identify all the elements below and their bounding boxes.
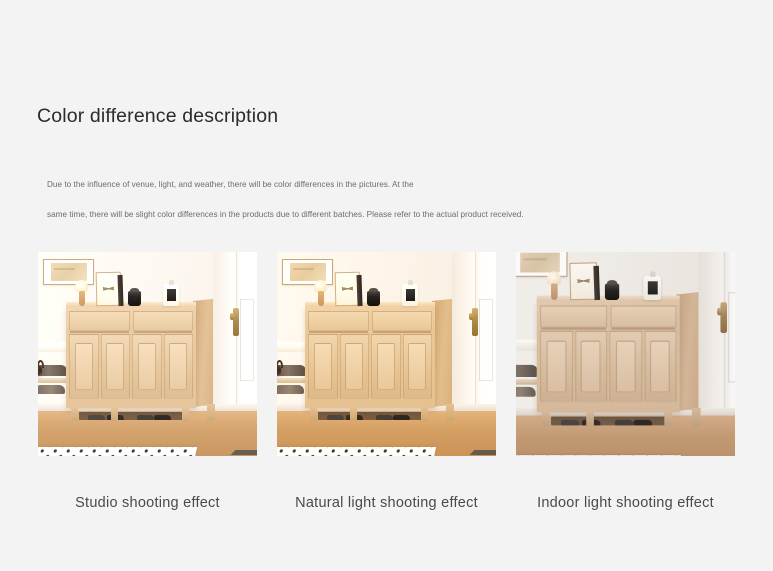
- wall-art-mat: [51, 263, 87, 280]
- cabinet-drawers: [540, 306, 676, 327]
- cabinet-leg: [664, 411, 672, 427]
- shoe-under-cabinet: [88, 415, 105, 420]
- bench-shoes-lower: [38, 385, 65, 395]
- white-decor-box: [644, 276, 662, 300]
- shoe-cabinet: [66, 306, 213, 408]
- cabinet-door: [371, 334, 400, 399]
- scene-studio: [38, 252, 257, 456]
- dark-book: [593, 266, 600, 300]
- door-handle-icon: [472, 308, 478, 337]
- caption-row: Studio shooting effect Natural light sho…: [38, 492, 735, 522]
- cabinet-door: [644, 331, 676, 403]
- color-difference-page: Color difference description Due to the …: [0, 0, 773, 571]
- bench-shoes-lower: [516, 387, 536, 398]
- cabinet-drawer: [610, 306, 677, 327]
- cabinet-leg: [310, 407, 317, 421]
- cabinet-leg: [421, 407, 428, 421]
- cabinet-leg: [350, 407, 357, 421]
- caption-natural: Natural light shooting effect: [277, 492, 496, 522]
- description-line-2: same time, there will be slight color di…: [47, 200, 737, 230]
- wall-art-mat: [520, 253, 559, 272]
- caption-indoor: Indoor light shooting effect: [516, 492, 735, 522]
- cabinet-drawer: [372, 311, 432, 330]
- shoe-cabinet: [305, 306, 452, 408]
- page-title: Color difference description: [37, 103, 278, 129]
- polka-dot-rug: [277, 447, 436, 456]
- rug-edge: [470, 450, 496, 455]
- cabinet-door: [164, 334, 193, 399]
- cabinet-drawer: [133, 311, 193, 330]
- cabinet-door: [403, 334, 432, 399]
- scene-natural: [277, 252, 496, 456]
- polka-dot-rug: [38, 447, 197, 456]
- shoe-under-cabinet: [393, 415, 410, 420]
- cabinet-drawers: [69, 311, 193, 330]
- cabinet-side-panel: [677, 293, 699, 412]
- mushroom-lamp-icon: [314, 280, 327, 306]
- cabinet-legs: [307, 407, 451, 421]
- cabinet-door: [575, 331, 607, 403]
- mushroom-lamp-icon: [547, 271, 562, 300]
- lamp-base: [79, 291, 85, 306]
- description-block: Due to the influence of venue, light, an…: [47, 170, 737, 230]
- door-panel: [240, 299, 254, 382]
- cabinet-leg: [446, 404, 453, 421]
- door-handle-icon: [233, 308, 239, 337]
- shoe-cabinet: [537, 300, 698, 412]
- photo-card-studio[interactable]: [38, 252, 257, 456]
- photo-card-natural[interactable]: [277, 252, 496, 456]
- dark-book: [356, 275, 362, 306]
- cabinet-leg: [692, 408, 700, 427]
- door-panel: [479, 299, 493, 382]
- bench-shoes-upper: [516, 365, 537, 377]
- cabinet-doors: [69, 334, 193, 399]
- cabinet-door: [340, 334, 369, 399]
- cabinet-drawers: [308, 311, 432, 330]
- caption-studio: Studio shooting effect: [38, 492, 257, 522]
- cabinet-drawer: [308, 311, 368, 330]
- cabinet-side-panel: [432, 299, 452, 407]
- cabinet-side-panel: [193, 299, 213, 407]
- cabinet-body: [537, 300, 679, 412]
- cabinet-door: [69, 334, 98, 399]
- rug-edge: [231, 450, 257, 455]
- scene-indoor: [516, 252, 735, 456]
- cabinet-drawer: [69, 311, 129, 330]
- white-decor-box: [163, 284, 179, 306]
- description-line-1: Due to the influence of venue, light, an…: [47, 170, 737, 200]
- cabinet-door: [308, 334, 337, 399]
- cabinet-leg: [111, 407, 118, 421]
- lamp-base: [551, 284, 558, 300]
- cabinet-door: [101, 334, 130, 399]
- cabinet-body: [305, 306, 434, 408]
- black-vase-icon: [605, 284, 620, 301]
- cabinet-leg: [207, 404, 214, 421]
- black-vase-icon: [128, 291, 141, 306]
- cabinet-door: [132, 334, 161, 399]
- photo-gallery: [38, 252, 735, 456]
- shoe-under-cabinet: [327, 415, 344, 420]
- cabinet-door: [540, 331, 572, 403]
- black-vase-icon: [367, 291, 380, 306]
- cabinet-leg: [542, 411, 550, 427]
- cabinet-leg: [71, 407, 78, 421]
- door-panel: [728, 292, 735, 383]
- lamp-base: [318, 291, 324, 306]
- shoe-under-cabinet: [137, 415, 154, 420]
- cabinet-doors: [540, 331, 676, 403]
- cabinet-legs: [539, 411, 697, 427]
- shoe-under-cabinet: [615, 420, 634, 425]
- wall-art-mat: [290, 263, 326, 280]
- shoe-under-cabinet: [561, 420, 580, 425]
- white-decor-box: [402, 284, 418, 306]
- shoe-under-cabinet: [154, 415, 171, 420]
- cabinet-leg: [182, 407, 189, 421]
- dark-book: [117, 275, 123, 306]
- cabinet-door: [609, 331, 641, 403]
- mushroom-lamp-icon: [75, 280, 88, 306]
- cabinet-legs: [68, 407, 212, 421]
- door-handle-icon: [720, 302, 727, 334]
- shoe-under-cabinet: [634, 420, 653, 425]
- cabinet-doors: [308, 334, 432, 399]
- bench-shoes-lower: [277, 385, 304, 395]
- polka-dot-rug: [516, 455, 681, 456]
- cabinet-drawer: [540, 306, 607, 327]
- cabinet-body: [66, 306, 195, 408]
- cabinet-leg: [586, 411, 594, 427]
- shoe-under-cabinet: [376, 415, 393, 420]
- photo-card-indoor[interactable]: [516, 252, 735, 456]
